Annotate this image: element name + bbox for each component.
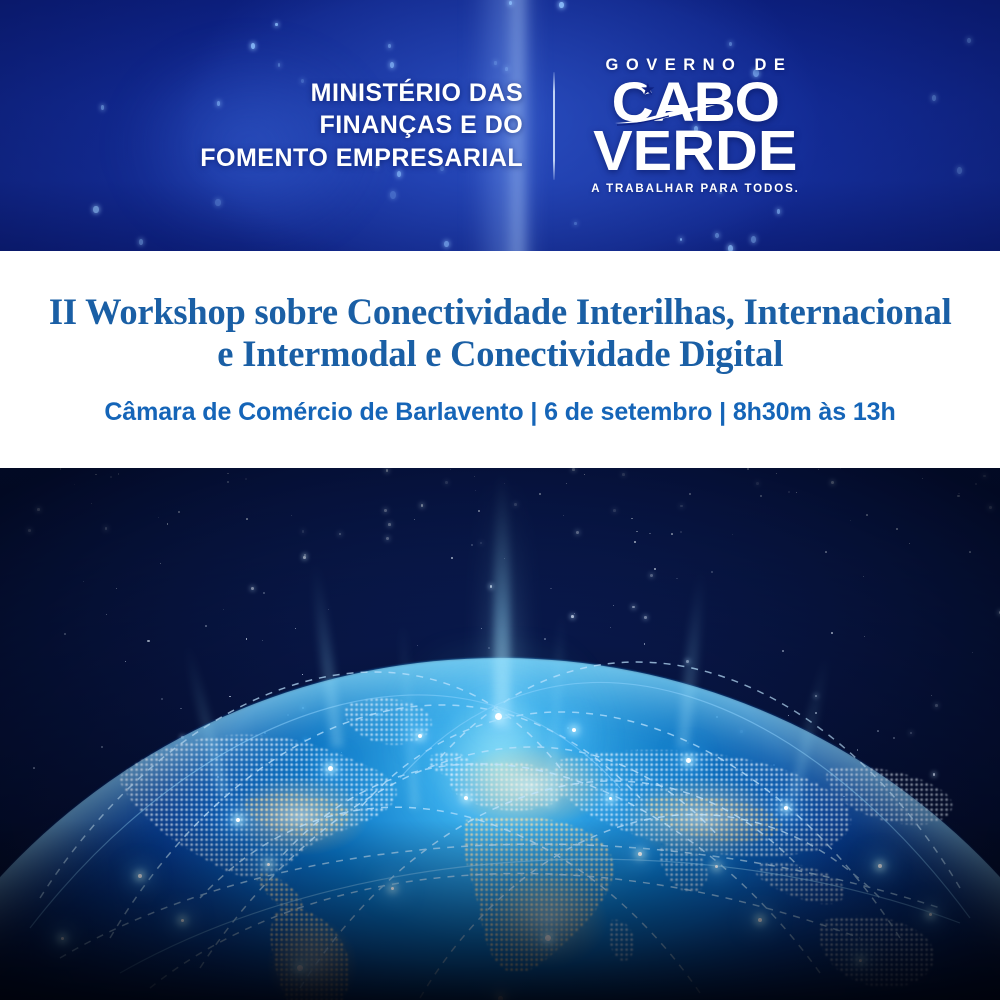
logo-tagline: A TRABALHAR PARA TODOS.: [591, 183, 800, 195]
title-band: II Workshop sobre Conectividade Interilh…: [0, 251, 1000, 468]
logo-word-verde: VERDE: [587, 126, 804, 176]
ministry-line-2: FINANÇAS E DO: [200, 109, 523, 142]
ministry-name: MINISTÉRIO DAS FINANÇAS E DO FOMENTO EMP…: [200, 77, 553, 175]
globe-hero-image: [0, 468, 1000, 1000]
ministry-line-3: FOMENTO EMPRESARIAL: [200, 142, 523, 175]
governo-cabo-verde-logo: GOVERNO DE CABO ★ VERDE A TRABALHAR PARA…: [555, 56, 800, 195]
star-icon: ★: [640, 81, 655, 98]
event-subtitle: Câmara de Comércio de Barlavento | 6 de …: [104, 398, 895, 427]
header-band: MINISTÉRIO DAS FINANÇAS E DO FOMENTO EMP…: [0, 0, 1000, 251]
event-title: II Workshop sobre Conectividade Interilh…: [49, 292, 952, 376]
ministry-line-1: MINISTÉRIO DAS: [200, 77, 523, 110]
poster: MINISTÉRIO DAS FINANÇAS E DO FOMENTO EMP…: [0, 0, 1000, 1000]
logo-wordmark: CABO ★ VERDE: [591, 77, 800, 176]
event-title-line-1: II Workshop sobre Conectividade Interilh…: [49, 292, 952, 333]
event-title-line-2: e Intermodal e Conectividade Digital: [49, 334, 952, 376]
